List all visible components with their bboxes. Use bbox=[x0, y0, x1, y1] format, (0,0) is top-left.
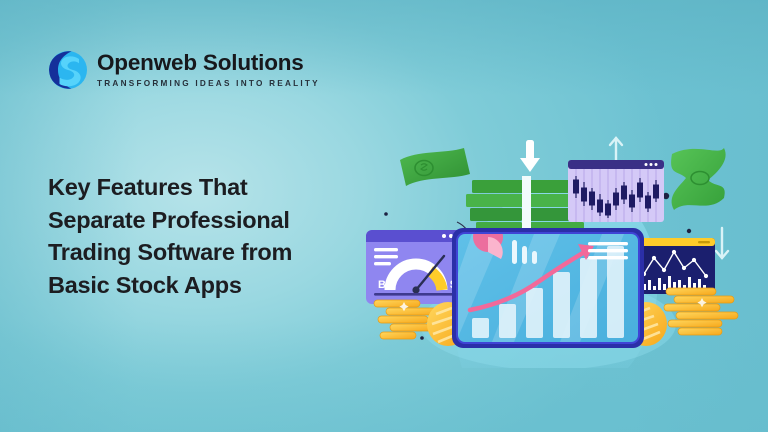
brand-tagline: TRANSFORMING IDEAS INTO REALITY bbox=[97, 80, 320, 88]
svg-text:B: B bbox=[378, 279, 386, 291]
headline-line-3: Trading Software from bbox=[48, 236, 348, 269]
brand-wordmark: Openweb Solutions bbox=[97, 52, 320, 75]
banknote-icon bbox=[671, 148, 726, 210]
marketing-banner: Openweb Solutions TRANSFORMING IDEAS INT… bbox=[0, 0, 768, 432]
speedometer-window-icon[interactable]: B $ bbox=[366, 230, 464, 304]
trading-software-illustration: B $ bbox=[352, 118, 768, 368]
page-title: Key Features That Separate Professional … bbox=[48, 171, 348, 301]
brand-logo-text: Openweb Solutions TRANSFORMING IDEAS INT… bbox=[97, 52, 320, 88]
arrow-down-icon bbox=[520, 140, 540, 172]
openweb-circle-s-icon bbox=[48, 50, 88, 90]
headline-line-1: Key Features That bbox=[48, 171, 348, 204]
arrow-up-icon bbox=[610, 138, 622, 162]
candlestick-chart-window-icon[interactable] bbox=[568, 160, 664, 222]
banknote-icon bbox=[400, 148, 470, 186]
brand-logo[interactable]: Openweb Solutions TRANSFORMING IDEAS INT… bbox=[48, 50, 320, 90]
line-chart-window-icon[interactable] bbox=[636, 238, 715, 294]
tablet-bar-chart-icon[interactable] bbox=[434, 222, 644, 348]
arrow-down-icon bbox=[716, 228, 728, 258]
headline-line-2: Separate Professional bbox=[48, 204, 348, 237]
headline-line-4: Basic Stock Apps bbox=[48, 269, 348, 302]
